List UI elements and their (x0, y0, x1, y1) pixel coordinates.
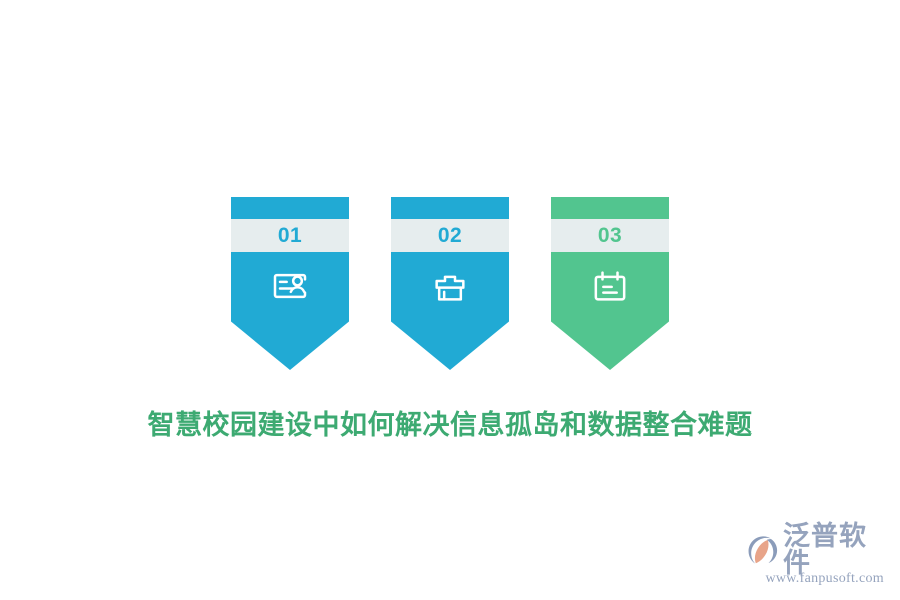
brand-logo-row: 泛普软件 (746, 530, 886, 570)
banner-top-strip (551, 197, 669, 219)
banner-number-label: 01 (278, 225, 302, 246)
banner-item-03[interactable]: 03 (551, 197, 669, 370)
poster-canvas: 01 02 (0, 0, 900, 600)
banner-body (391, 252, 509, 370)
banner-number-band: 03 (551, 219, 669, 252)
fanpu-swirl-logo-icon (746, 533, 780, 567)
banner-body (231, 252, 349, 370)
banner-number-band: 01 (231, 219, 349, 252)
page-title: 智慧校园建设中如何解决信息孤岛和数据整合难题 (0, 409, 900, 441)
school-building-icon (430, 266, 470, 306)
brand-wordmark: 泛普软件 (783, 523, 886, 577)
banner-number-label: 03 (598, 225, 622, 246)
banner-item-01[interactable]: 01 (231, 197, 349, 370)
brand-url: www.fanpusoft.com (746, 571, 886, 587)
banner-item-02[interactable]: 02 (391, 197, 509, 370)
calendar-note-icon (590, 266, 630, 306)
banner-number-label: 02 (438, 225, 462, 246)
banner-top-strip (231, 197, 349, 219)
brand-logo: 泛普软件 www.fanpusoft.com (746, 530, 886, 592)
banner-top-strip (391, 197, 509, 219)
banner-body (551, 252, 669, 370)
banner-row: 01 02 (0, 197, 900, 372)
contact-card-icon (270, 266, 310, 306)
banner-number-band: 02 (391, 219, 509, 252)
